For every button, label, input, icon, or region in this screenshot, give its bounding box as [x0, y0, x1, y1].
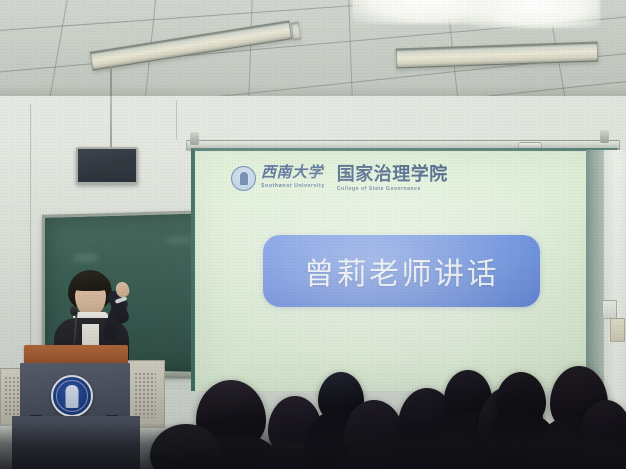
slide-title-text: 曾莉老师讲话	[304, 249, 499, 293]
screen-bracket-left	[190, 132, 199, 145]
university-name-cn: 西南大学	[261, 165, 325, 182]
screen-bracket-right	[600, 130, 609, 143]
ceiling-light-fixture	[291, 21, 302, 40]
university-seal-icon	[231, 166, 256, 191]
ceiling-window-glow	[470, 0, 600, 28]
presenter-fringe	[70, 272, 111, 291]
classroom-photo: 西南大学 Southwest University 国家治理学院 College…	[0, 0, 626, 469]
college-name-en: College of State Governance	[337, 186, 448, 193]
college-name-cn: 国家治理学院	[337, 165, 448, 184]
ceiling-light-fixture	[396, 41, 599, 68]
wall-speaker	[76, 147, 138, 184]
audience-shadow	[0, 423, 626, 469]
slide-logo-header: 西南大学 Southwest University 国家治理学院 College…	[231, 165, 448, 193]
slide-title-box: 曾莉老师讲话	[263, 235, 540, 307]
speaker-conduit	[110, 96, 112, 148]
university-name-en: Southwest University	[261, 183, 325, 190]
ceiling-light-fixture	[90, 20, 292, 70]
